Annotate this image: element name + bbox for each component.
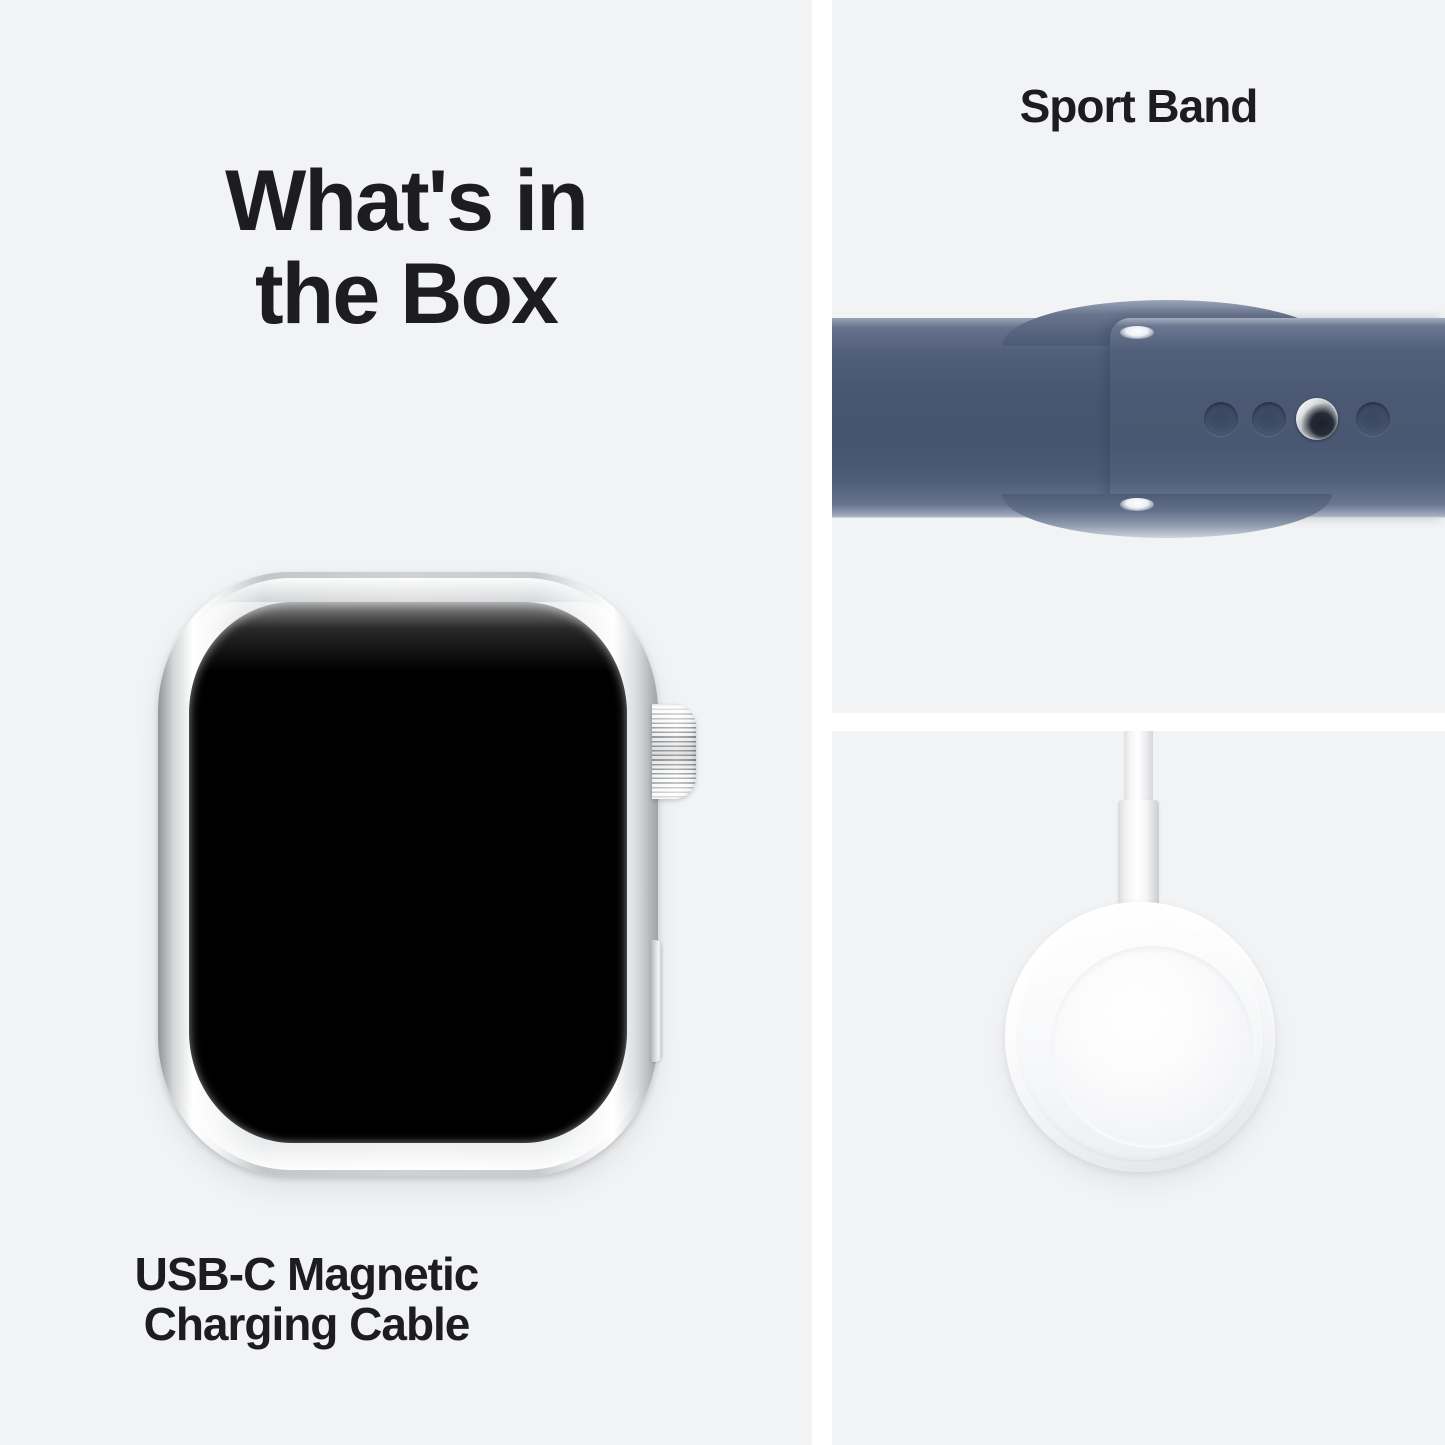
watch-display [189,602,627,1143]
band-hole [1252,402,1286,436]
charging-cable-title: USB-C Magnetic Charging Cable [0,1250,613,1349]
sport-band-image [832,300,1445,540]
digital-crown [652,704,696,799]
panel-whats-in-the-box: What's in the Box [0,0,812,1445]
panel-charging-cable [832,731,1445,1445]
charging-cable-image [832,731,1445,1445]
band-hole [1356,402,1390,436]
panel-sport-band: Sport Band [832,0,1445,713]
digital-crown-sheen [652,704,696,799]
band-keeper-bulge-bottom [1002,494,1332,538]
puck-charging-surface [1051,946,1253,1148]
band-tuck-gap-bottom [1120,498,1154,511]
magnetic-charging-puck [1005,902,1275,1172]
band-tuck-gap-top [1120,326,1154,339]
cable-cord [1124,731,1153,807]
cable-strain-relief-collar [1118,800,1159,907]
band-hole [1204,402,1238,436]
puck-outer-ring [1017,914,1263,1160]
product-in-the-box-layout: What's in the Box Sport Band [0,0,1445,1445]
sport-band-title: Sport Band [832,82,1445,132]
page-title: What's in the Box [0,155,812,341]
band-pin [1296,398,1338,440]
side-button [651,940,662,1062]
apple-watch-image [158,572,658,1176]
